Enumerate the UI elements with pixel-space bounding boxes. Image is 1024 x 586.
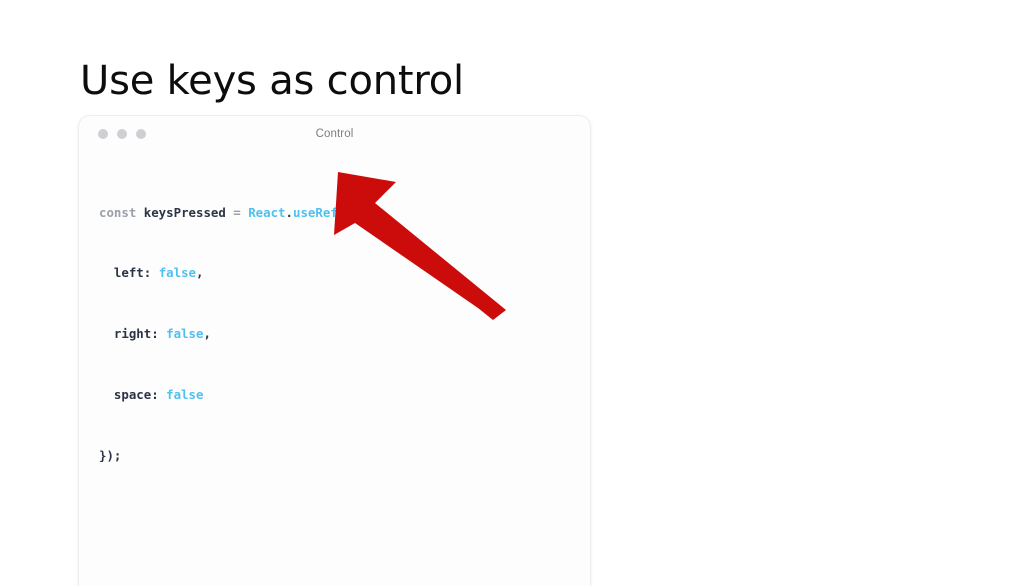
- window-title-bar: Control: [79, 116, 590, 154]
- code-line: space: false: [79, 385, 590, 405]
- code-editor[interactable]: const keysPressed = React.useRef({ left:…: [79, 154, 590, 586]
- code-window: Control const keysPressed = React.useRef…: [79, 116, 590, 586]
- code-line-blank: [79, 568, 590, 586]
- code-line: const keysPressed = React.useRef({: [79, 203, 590, 223]
- code-line-blank: [79, 507, 590, 527]
- page-title: Use keys as control: [80, 56, 464, 106]
- code-line: right: false,: [79, 324, 590, 344]
- window-title: Control: [79, 128, 590, 140]
- code-line: left: false,: [79, 263, 590, 283]
- code-line: });: [79, 446, 590, 466]
